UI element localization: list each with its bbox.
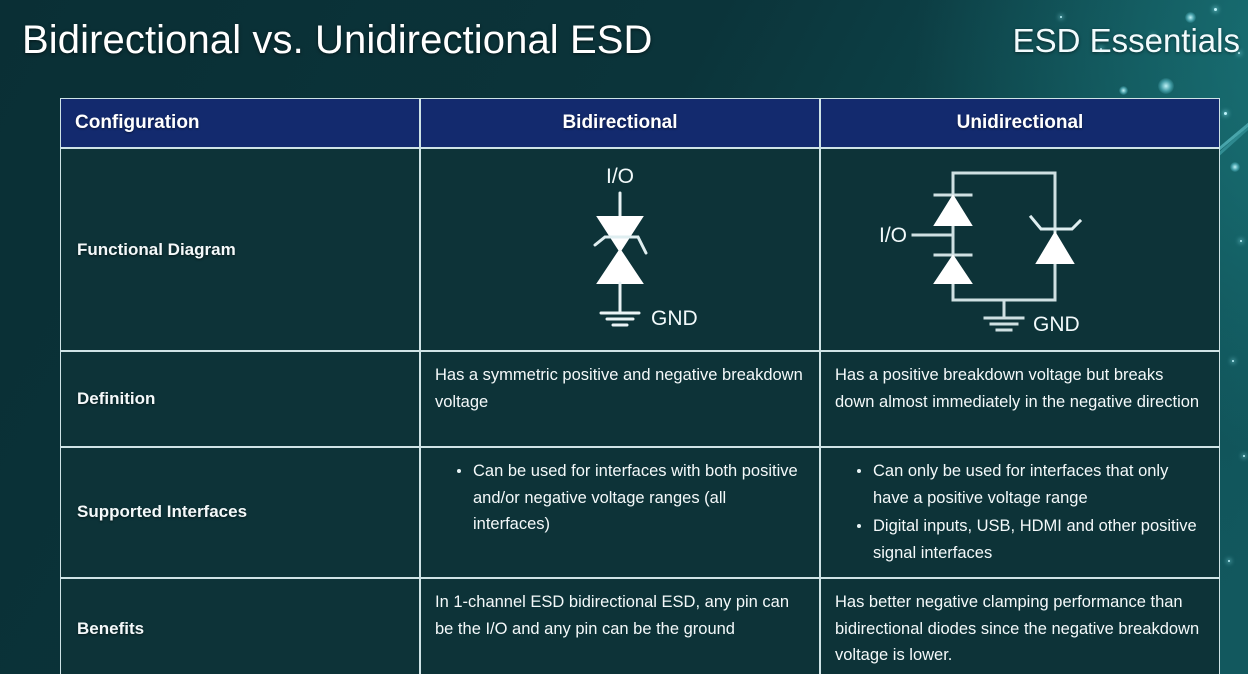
series-label: ESD Essentials <box>1013 22 1240 60</box>
column-header-unidirectional: Unidirectional <box>820 98 1220 148</box>
cell-benefits-unidirectional: Has better negative clamping performance… <box>820 578 1220 674</box>
table-header-row: Configuration Bidirectional Unidirection… <box>60 98 1220 148</box>
cell-definition-bidirectional: Has a symmetric positive and negative br… <box>420 351 820 447</box>
star-dot <box>1243 455 1245 457</box>
table-row-supported-interfaces: Supported Interfaces Can be used for int… <box>60 447 1220 578</box>
star-dot <box>1228 560 1230 562</box>
star-dot <box>1214 8 1217 11</box>
cell-unidirectional-diagram: I/O GND <box>820 148 1220 351</box>
star-dot <box>1240 240 1242 242</box>
cell-bidirectional-diagram: I/O GND <box>420 148 820 351</box>
glow-dot <box>1158 78 1174 94</box>
table-body: Functional Diagram <box>60 148 1220 674</box>
row-label-supported-interfaces: Supported Interfaces <box>60 447 420 578</box>
bidirectional-gnd-label: GND <box>651 307 698 330</box>
comparison-table: Configuration Bidirectional Unidirection… <box>60 98 1220 674</box>
page-title: Bidirectional vs. Unidirectional ESD <box>22 18 653 63</box>
list-item: Can be used for interfaces with both pos… <box>457 458 805 538</box>
title-bar: Bidirectional vs. Unidirectional ESD ESD… <box>0 18 1248 80</box>
table-head: Configuration Bidirectional Unidirection… <box>60 98 1220 148</box>
list-item: Can only be used for interfaces that onl… <box>857 458 1205 511</box>
column-header-bidirectional: Bidirectional <box>420 98 820 148</box>
bidirectional-tvs-diode-icon: I/O GND <box>505 155 735 345</box>
unidirectional-tvs-diode-icon: I/O GND <box>875 155 1165 345</box>
interfaces-bidirectional-list: Can be used for interfaces with both pos… <box>435 458 805 538</box>
column-header-configuration: Configuration <box>60 98 420 148</box>
cell-interfaces-unidirectional: Can only be used for interfaces that onl… <box>820 447 1220 578</box>
row-label-definition: Definition <box>60 351 420 447</box>
glow-dot <box>1119 86 1128 95</box>
definition-bidirectional-text: Has a symmetric positive and negative br… <box>435 362 805 415</box>
table-row-benefits: Benefits In 1-channel ESD bidirectional … <box>60 578 1220 674</box>
unidirectional-gnd-label: GND <box>1033 313 1080 336</box>
table-row-functional-diagram: Functional Diagram <box>60 148 1220 351</box>
cell-benefits-bidirectional: In 1-channel ESD bidirectional ESD, any … <box>420 578 820 674</box>
table-row-definition: Definition Has a symmetric positive and … <box>60 351 1220 447</box>
star-dot <box>1232 360 1234 362</box>
glow-dot <box>1230 162 1240 172</box>
unidirectional-io-label: I/O <box>879 224 907 247</box>
star-dot <box>1224 112 1227 115</box>
definition-unidirectional-text: Has a positive breakdown voltage but bre… <box>835 362 1205 415</box>
interfaces-unidirectional-list: Can only be used for interfaces that onl… <box>835 458 1205 567</box>
list-item: Digital inputs, USB, HDMI and other posi… <box>857 513 1205 566</box>
row-label-functional-diagram: Functional Diagram <box>60 148 420 351</box>
row-label-benefits: Benefits <box>60 578 420 674</box>
cell-interfaces-bidirectional: Can be used for interfaces with both pos… <box>420 447 820 578</box>
slide-canvas: Bidirectional vs. Unidirectional ESD ESD… <box>0 0 1248 674</box>
bidirectional-io-label: I/O <box>606 165 634 188</box>
benefits-unidirectional-text: Has better negative clamping performance… <box>835 589 1205 669</box>
cell-definition-unidirectional: Has a positive breakdown voltage but bre… <box>820 351 1220 447</box>
benefits-bidirectional-text: In 1-channel ESD bidirectional ESD, any … <box>435 589 805 642</box>
